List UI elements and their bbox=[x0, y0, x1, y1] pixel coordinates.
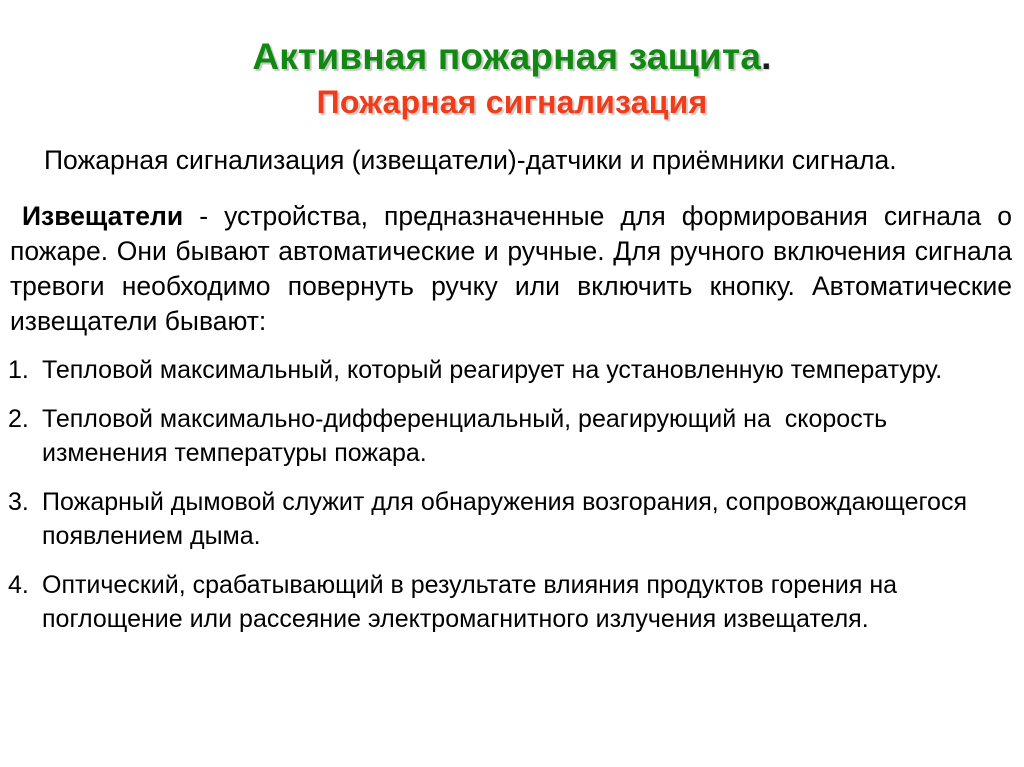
list-item-label: Оптический, срабатывающий в результате в… bbox=[42, 571, 904, 633]
paragraph-detectors: Извещатели - устройства, предназначенные… bbox=[10, 199, 1012, 340]
page-subtitle: Пожарная сигнализация bbox=[0, 86, 1024, 120]
list-item-label: Пожарный дымовой служит для обнаружения … bbox=[42, 488, 974, 550]
slide-body: Пожарная сигнализация (извещатели)-датчи… bbox=[0, 143, 1024, 339]
page-title-text: Активная пожарная защита bbox=[252, 36, 761, 77]
list-item-label: Тепловой максимально-дифференциальный, р… bbox=[42, 405, 894, 467]
list-item: 1. Тепловой максимальный, который реагир… bbox=[8, 354, 1012, 388]
list-item-number: 1. bbox=[8, 354, 38, 388]
list-item: 3. Пожарный дымовой служит для обнаружен… bbox=[8, 486, 1012, 553]
list-item: 4. Оптический, срабатывающий в результат… bbox=[8, 569, 1012, 636]
list-item-number: 3. bbox=[8, 486, 38, 520]
detector-types-list: 1. Тепловой максимальный, который реагир… bbox=[0, 354, 1024, 637]
page-title-period: . bbox=[761, 36, 771, 77]
paragraph-detectors-lead: Извещатели bbox=[22, 201, 183, 231]
list-item-number: 2. bbox=[8, 403, 38, 437]
paragraph-definition: Пожарная сигнализация (извещатели)-датчи… bbox=[10, 143, 1012, 178]
page-title: Активная пожарная защита. bbox=[0, 38, 1024, 77]
list-item-label: Тепловой максимальный, который реагирует… bbox=[42, 356, 942, 384]
list-item-number: 4. bbox=[8, 569, 38, 603]
slide-title-block: Активная пожарная защита. Пожарная сигна… bbox=[0, 0, 1024, 119]
slide-root: Активная пожарная защита. Пожарная сигна… bbox=[0, 0, 1024, 767]
list-item: 2. Тепловой максимально-дифференциальный… bbox=[8, 403, 1012, 470]
